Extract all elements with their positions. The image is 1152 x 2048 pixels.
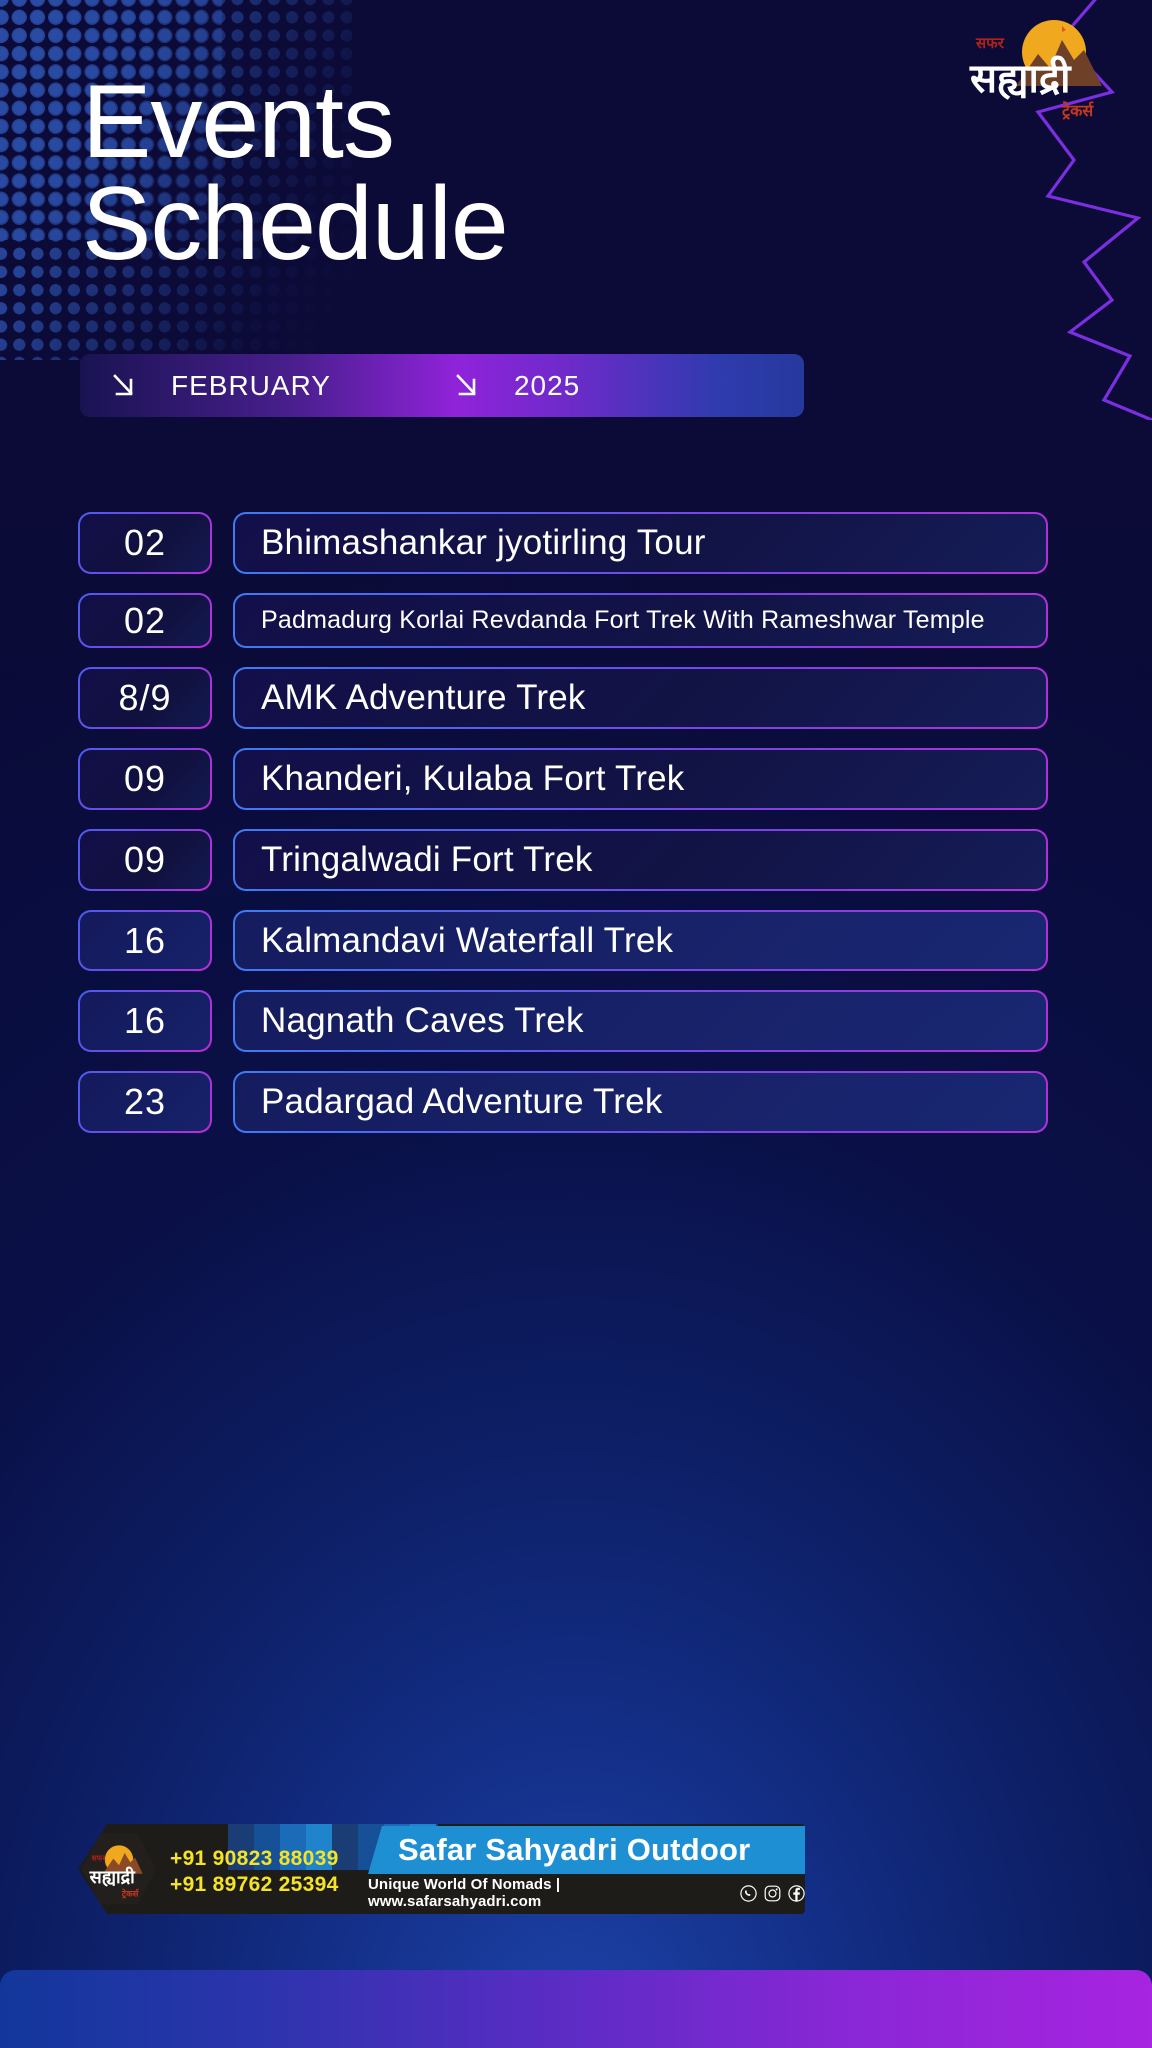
event-row[interactable]: 23Padargad Adventure Trek [78, 1071, 1048, 1133]
event-day-box: 09 [78, 829, 212, 891]
event-title-label: Kalmandavi Waterfall Trek [235, 912, 1046, 970]
events-list: 02Bhimashankar jyotirling Tour02Padmadur… [78, 512, 1048, 1152]
event-title-label: Padmadurg Korlai Revdanda Fort Trek With… [235, 595, 1046, 647]
footer-tagline-row: Unique World Of Nomads | www.safarsahyad… [368, 1878, 805, 1908]
event-title-label: AMK Adventure Trek [235, 669, 1046, 727]
poster-canvas: सफर सह्याद्री ट्रेकर्स Events Schedule F… [0, 0, 1152, 2048]
month-cell: FEBRUARY [108, 370, 331, 402]
footer-contact-strip: सफर सह्याद्री ट्रेकर्स +91 90823 88039 +… [78, 1824, 805, 1914]
event-day-label: 23 [80, 1073, 210, 1131]
event-title-box: Khanderi, Kulaba Fort Trek [233, 748, 1048, 810]
month-label: FEBRUARY [171, 370, 331, 402]
arrow-down-right-icon [451, 370, 482, 401]
event-title-box: Bhimashankar jyotirling Tour [233, 512, 1048, 574]
phone-number-1[interactable]: +91 90823 88039 [170, 1846, 339, 1872]
event-day-box: 16 [78, 910, 212, 972]
event-title-box: Nagnath Caves Trek [233, 990, 1048, 1052]
year-cell: 2025 [451, 370, 580, 402]
safar-sahyadri-trekkers-logo: सफर सह्याद्री ट्रेकर्स [958, 10, 1134, 128]
page-title: Events Schedule [82, 72, 802, 276]
event-day-label: 09 [80, 831, 210, 889]
footer-social-icons [740, 1885, 805, 1902]
svg-text:सह्याद्री: सह्याद्री [89, 1866, 136, 1888]
event-title-box: Padargad Adventure Trek [233, 1071, 1048, 1133]
event-row[interactable]: 8/9AMK Adventure Trek [78, 667, 1048, 729]
event-title-box: AMK Adventure Trek [233, 667, 1048, 729]
facebook-icon[interactable] [788, 1885, 805, 1902]
event-title-box: Kalmandavi Waterfall Trek [233, 910, 1048, 972]
page-title-line-1: Events [82, 64, 394, 180]
event-day-box: 09 [78, 748, 212, 810]
svg-text:ट्रेकर्स: ट्रेकर्स [1061, 101, 1094, 120]
year-label: 2025 [514, 370, 580, 402]
event-title-text: Padmadurg Korlai Revdanda Fort Trek With… [261, 605, 1020, 637]
event-day-label: 16 [80, 992, 210, 1050]
period-banner: FEBRUARY 2025 [80, 354, 804, 417]
event-title-box: Tringalwadi Fort Trek [233, 829, 1048, 891]
event-row[interactable]: 09Khanderi, Kulaba Fort Trek [78, 748, 1048, 810]
event-day-box: 23 [78, 1071, 212, 1133]
event-row[interactable]: 02Bhimashankar jyotirling Tour [78, 512, 1048, 574]
event-row[interactable]: 16Nagnath Caves Trek [78, 990, 1048, 1052]
footer-phone-numbers[interactable]: +91 90823 88039 +91 89762 25394 [170, 1846, 339, 1897]
event-day-box: 16 [78, 990, 212, 1052]
page-title-line-2: Schedule [82, 174, 802, 276]
footer-brand-name: Safar Sahyadri Outdoor [398, 1832, 750, 1868]
event-day-label: 02 [80, 595, 210, 647]
event-day-label: 02 [80, 514, 210, 572]
phone-number-2[interactable]: +91 89762 25394 [170, 1872, 339, 1898]
event-title-label: Bhimashankar jyotirling Tour [235, 514, 1046, 572]
event-title-label: Padargad Adventure Trek [235, 1073, 1046, 1131]
bottom-gradient-bar [0, 1970, 1152, 2048]
event-title-label: Tringalwadi Fort Trek [235, 831, 1046, 889]
event-day-label: 16 [80, 912, 210, 970]
whatsapp-icon[interactable] [740, 1885, 757, 1902]
event-day-box: 02 [78, 593, 212, 649]
event-row[interactable]: 16Kalmandavi Waterfall Trek [78, 910, 1048, 972]
event-row[interactable]: 02Padmadurg Korlai Revdanda Fort Trek Wi… [78, 593, 1048, 649]
footer-tagline: Unique World Of Nomads | www.safarsahyad… [368, 1876, 729, 1910]
event-title-label: Nagnath Caves Trek [235, 992, 1046, 1050]
arrow-down-right-icon [108, 370, 139, 401]
svg-text:ट्रेकर्स: ट्रेकर्स [121, 1888, 140, 1899]
instagram-icon[interactable] [764, 1885, 781, 1902]
svg-text:सह्याद्री: सह्याद्री [969, 55, 1072, 102]
event-day-box: 02 [78, 512, 212, 574]
event-day-label: 09 [80, 750, 210, 808]
event-title-label: Khanderi, Kulaba Fort Trek [235, 750, 1046, 808]
svg-text:सफर: सफर [975, 34, 1005, 52]
footer-brand-band: Safar Sahyadri Outdoor [368, 1826, 805, 1874]
event-row[interactable]: 09Tringalwadi Fort Trek [78, 829, 1048, 891]
event-title-box: Padmadurg Korlai Revdanda Fort Trek With… [233, 593, 1048, 649]
event-day-box: 8/9 [78, 667, 212, 729]
event-day-label: 8/9 [80, 669, 210, 727]
svg-text:सफर: सफर [91, 1853, 107, 1862]
